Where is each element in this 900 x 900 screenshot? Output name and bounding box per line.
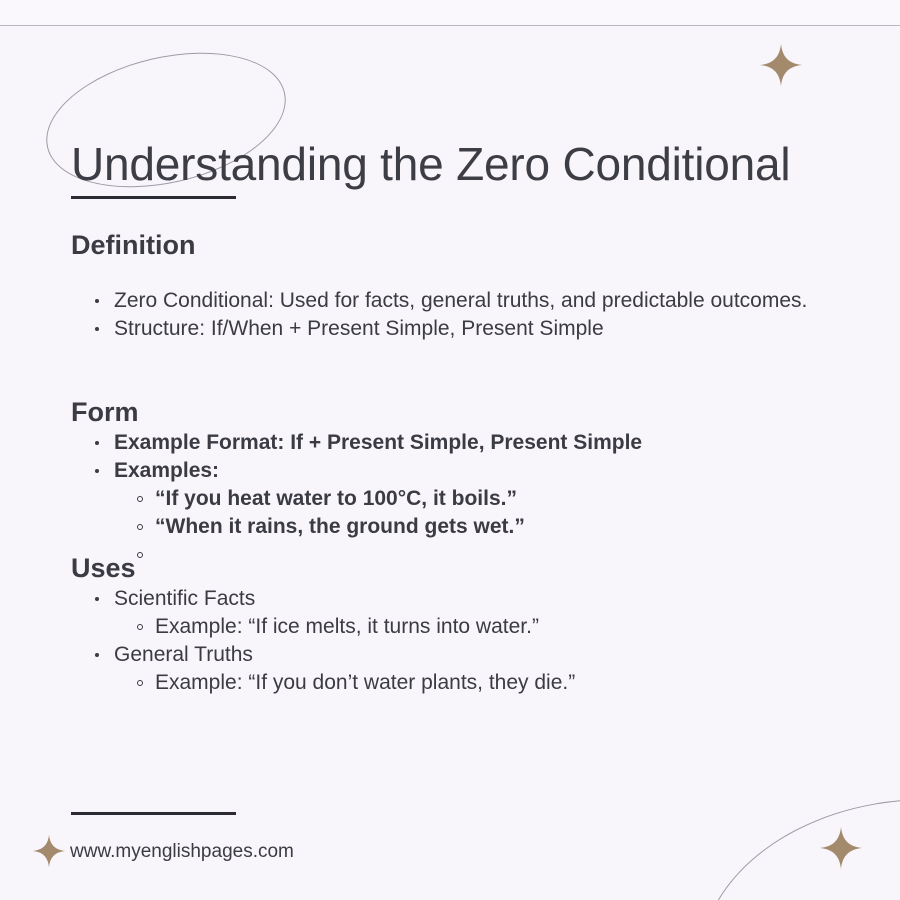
- form-bullet-list: Example Format: If + Present Simple, Pre…: [0, 429, 900, 541]
- spacer: [0, 541, 900, 551]
- sparkle-icon-bottom-right: [819, 826, 863, 870]
- list-item: Example: “If ice melts, it turns into wa…: [0, 613, 900, 641]
- section-heading-definition: Definition: [0, 228, 900, 262]
- page-title: Understanding the Zero Conditional: [71, 134, 790, 194]
- section-form: Form Example Format: If + Present Simple…: [0, 395, 900, 541]
- slide-content: Definition Zero Conditional: Used for fa…: [0, 228, 900, 697]
- section-definition: Definition Zero Conditional: Used for fa…: [0, 228, 900, 343]
- footer-website-url: www.myenglishpages.com: [70, 839, 294, 865]
- section-heading-uses: Uses: [0, 551, 900, 585]
- top-band: [0, 0, 900, 25]
- footer-rule: [71, 812, 236, 815]
- top-divider: [0, 25, 900, 26]
- title-underline-rule: [71, 196, 236, 199]
- list-item: Example Format: If + Present Simple, Pre…: [0, 429, 900, 457]
- arc-outline-icon: [685, 779, 900, 900]
- list-item: “When it rains, the ground gets wet.”: [0, 513, 900, 541]
- list-item: Zero Conditional: Used for facts, genera…: [0, 287, 900, 315]
- sparkle-icon-top-right: [759, 43, 803, 87]
- list-item: General Truths: [0, 641, 900, 669]
- sparkle-icon-footer: [32, 834, 66, 868]
- section-heading-form: Form: [0, 395, 900, 429]
- list-item: “If you heat water to 100°C, it boils.”: [0, 485, 900, 513]
- definition-bullet-list: Zero Conditional: Used for facts, genera…: [0, 287, 900, 343]
- section-uses: Uses Scientific Facts Example: “If ice m…: [0, 551, 900, 697]
- list-item: Example: “If you don’t water plants, the…: [0, 669, 900, 697]
- spacer: [0, 343, 900, 369]
- uses-bullet-list: Scientific Facts Example: “If ice melts,…: [0, 585, 900, 697]
- list-item: Examples:: [0, 457, 900, 485]
- spacer: [0, 369, 900, 395]
- slide-canvas: Understanding the Zero Conditional Defin…: [0, 0, 900, 900]
- list-item: Scientific Facts: [0, 585, 900, 613]
- list-item: Structure: If/When + Present Simple, Pre…: [0, 315, 900, 343]
